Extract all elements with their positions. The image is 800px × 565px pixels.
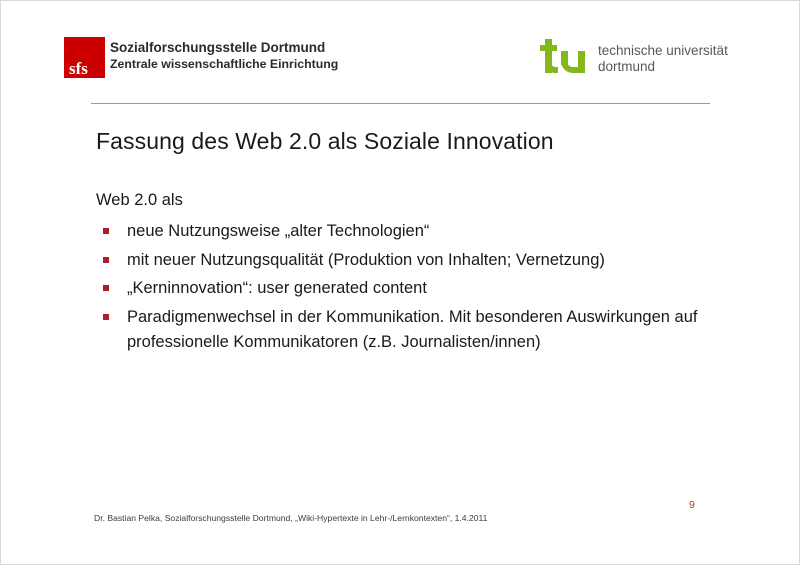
sfs-logo-line2: Zentrale wissenschaftliche Einrichtung (110, 56, 338, 73)
list-item: neue Nutzungsweise „alter Technologien“ (96, 219, 721, 245)
bullet-list: neue Nutzungsweise „alter Technologien“ … (96, 219, 721, 356)
list-item-label: Paradigmenwechsel in der Kommunikation. … (127, 308, 697, 352)
tu-logo-line2: dortmund (598, 59, 728, 75)
body-lead-text: Web 2.0 als (96, 189, 721, 211)
square-bullet-icon (103, 257, 109, 263)
sfs-logo-line1: Sozialforschungsstelle Dortmund (110, 39, 338, 56)
list-item-label: neue Nutzungsweise „alter Technologien“ (127, 222, 429, 240)
tu-dortmund-logo: technische universität dortmund (539, 39, 728, 79)
tu-logo-mark-icon (539, 39, 587, 79)
list-item: Paradigmenwechsel in der Kommunikation. … (96, 305, 721, 356)
slide-title: Fassung des Web 2.0 als Soziale Innovati… (96, 127, 736, 155)
sfs-logo-wordmark: Sozialforschungsstelle Dortmund Zentrale… (110, 39, 338, 73)
page-number: 9 (689, 499, 695, 511)
list-item-label: mit neuer Nutzungsqualität (Produktion v… (127, 251, 605, 269)
sfs-logo-mark-label: sfs (69, 60, 88, 77)
sfs-logo: sfs Sozialforschungsstelle Dortmund Zent… (64, 37, 338, 78)
list-item-label: „Kerninnovation“: user generated content (127, 279, 427, 297)
list-item: mit neuer Nutzungsqualität (Produktion v… (96, 248, 721, 274)
tu-logo-line1: technische universität (598, 43, 728, 59)
square-bullet-icon (103, 285, 109, 291)
tu-logo-wordmark: technische universität dortmund (598, 43, 728, 74)
footer-note: Dr. Bastian Pelka, Sozialforschungsstell… (94, 512, 487, 524)
slide-header: sfs Sozialforschungsstelle Dortmund Zent… (1, 1, 800, 97)
header-divider (91, 103, 710, 104)
slide-body: Web 2.0 als neue Nutzungsweise „alter Te… (96, 189, 721, 359)
list-item: „Kerninnovation“: user generated content (96, 276, 721, 302)
sfs-logo-mark-icon: sfs (64, 37, 105, 78)
square-bullet-icon (103, 228, 109, 234)
presentation-slide: sfs Sozialforschungsstelle Dortmund Zent… (0, 0, 800, 565)
square-bullet-icon (103, 314, 109, 320)
